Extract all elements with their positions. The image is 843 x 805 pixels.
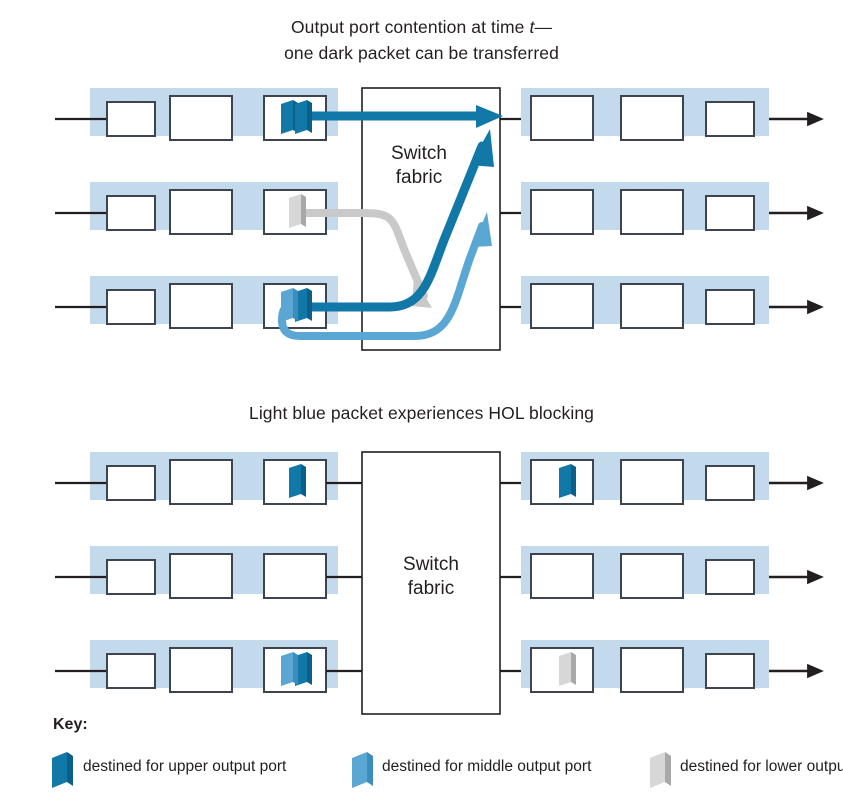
packet-dark-blue xyxy=(289,464,306,498)
input-slot-middle-1 xyxy=(107,196,155,230)
switch-fabric-label-upper-line1: Switch xyxy=(391,143,447,164)
input-slot-middle-1 xyxy=(107,560,155,594)
switch-fabric-label-upper-line2: fabric xyxy=(396,167,442,188)
packet-dark-blue xyxy=(559,464,576,498)
input-slot-middle-2 xyxy=(170,190,232,234)
output-slot-lower-2 xyxy=(621,648,683,692)
output-slot-lower-3 xyxy=(706,654,754,688)
output-slot-upper-2 xyxy=(621,96,683,140)
key-swatch-dark-blue-packet xyxy=(52,752,73,788)
upper-panel: Switch fabric xyxy=(55,88,815,350)
input-slot-lower-1 xyxy=(107,290,155,324)
diagram-svg: Switch fabric xyxy=(0,0,843,805)
output-slot-upper-3 xyxy=(706,466,754,500)
input-slot-upper-1 xyxy=(107,102,155,136)
figure-canvas: Output port contention at time t— one da… xyxy=(0,0,843,805)
packet-dark-blue xyxy=(295,100,312,134)
output-slot-lower-2 xyxy=(621,284,683,328)
packet-gray xyxy=(559,652,576,686)
input-slot-lower-1 xyxy=(107,654,155,688)
output-slot-upper-1 xyxy=(531,96,593,140)
key-swatch-gray-packet xyxy=(650,752,671,788)
output-slot-middle-3 xyxy=(706,196,754,230)
input-slot-lower-2 xyxy=(170,284,232,328)
output-slot-upper-3 xyxy=(706,102,754,136)
packet-light-blue xyxy=(281,288,298,322)
input-slot-upper-1 xyxy=(107,466,155,500)
output-slot-middle-2 xyxy=(621,554,683,598)
lower-panel: Switch fabric xyxy=(55,452,815,714)
input-slot-upper-2 xyxy=(170,460,232,504)
input-slot-middle-2 xyxy=(170,554,232,598)
key-swatch-light-blue-packet xyxy=(352,752,373,788)
output-slot-middle-2 xyxy=(621,190,683,234)
packet-gray xyxy=(289,194,306,228)
output-slot-lower-1 xyxy=(531,284,593,328)
switch-fabric-label-lower-line1: Switch xyxy=(403,554,459,575)
output-slot-upper-2 xyxy=(621,460,683,504)
output-slot-middle-1 xyxy=(531,190,593,234)
packet-light-blue xyxy=(281,652,298,686)
switch-fabric-label-lower-line2: fabric xyxy=(408,578,454,599)
input-slot-lower-2 xyxy=(170,648,232,692)
output-slot-lower-3 xyxy=(706,290,754,324)
output-slot-middle-3 xyxy=(706,560,754,594)
output-slot-middle-1 xyxy=(531,554,593,598)
input-slot-upper-2 xyxy=(170,96,232,140)
key-swatches xyxy=(52,752,671,788)
input-slot-middle-3 xyxy=(264,554,326,598)
